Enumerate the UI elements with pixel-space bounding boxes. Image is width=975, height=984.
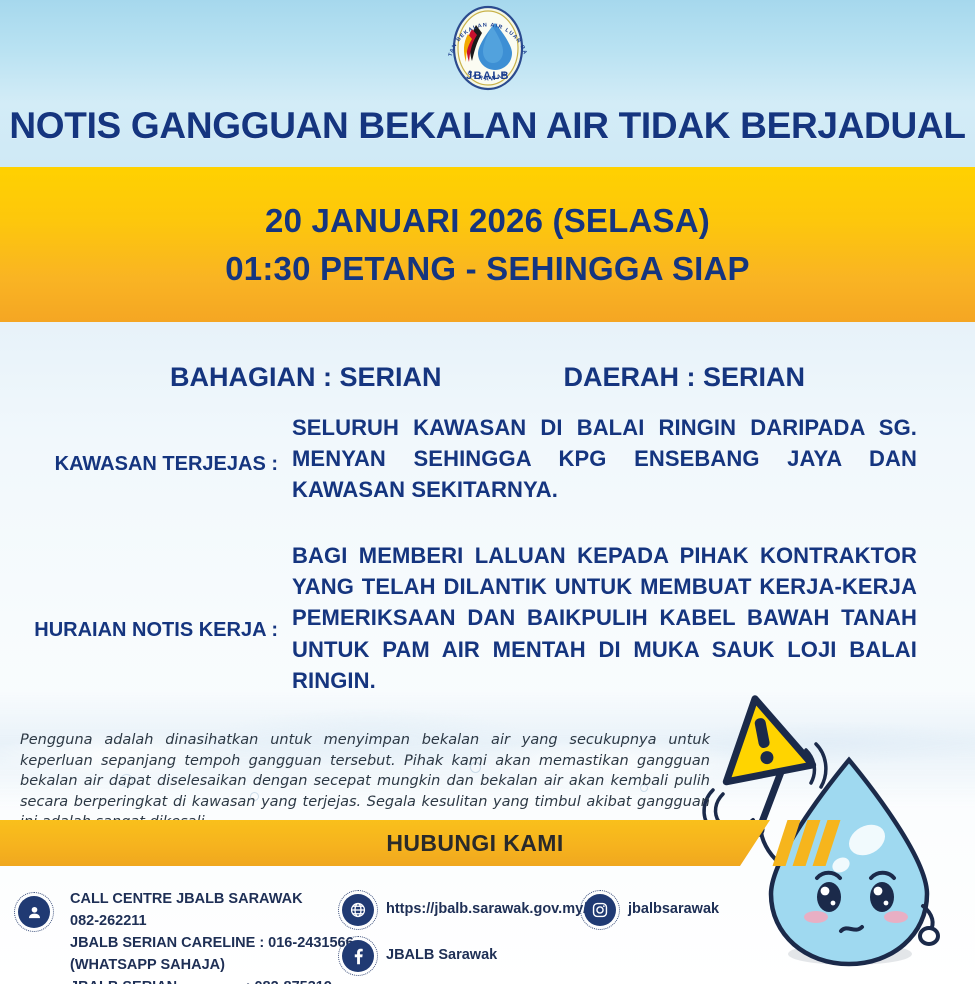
work-description-value: BAGI MEMBERI LALUAN KEPADA PIHAK KONTRAK… (292, 540, 917, 720)
instagram-handle[interactable]: jbalbsarawak (628, 901, 719, 917)
advisory-text: Pengguna adalah dinasihatkan untuk menyi… (20, 730, 710, 833)
date-time-banner: 20 JANUARI 2026 (SELASA) 01:30 PETANG - … (0, 167, 975, 322)
work-description-row: HURAIAN NOTIS KERJA : BAGI MEMBERI LALUA… (0, 540, 975, 720)
call-centre-block: CALL CENTRE JBALB SARAWAK 082-262211 JBA… (70, 888, 354, 984)
poster-body: BAHAGIAN : SERIAN DAERAH : SERIAN KAWASA… (0, 322, 975, 984)
contact-banner: HUBUNGI KAMI (0, 820, 770, 866)
facebook-handle[interactable]: JBALB Sarawak (386, 947, 497, 963)
facebook-icon[interactable] (338, 936, 378, 976)
person-icon (14, 892, 54, 932)
poster-header: JBALB JABATAN BEKALAN AIR LUAR BANDAR SA… (0, 0, 975, 167)
instagram-icon[interactable] (580, 890, 620, 930)
jbalb-sarawak-logo: JBALB JABATAN BEKALAN AIR LUAR BANDAR SA… (440, 3, 536, 93)
division-label: BAHAGIAN : SERIAN (170, 362, 442, 393)
affected-areas-label: KAWASAN TERJEJAS : (0, 412, 292, 516)
contact-banner-title: HUBUNGI KAMI (386, 830, 563, 857)
notice-poster: JBALB JABATAN BEKALAN AIR LUAR BANDAR SA… (0, 0, 975, 984)
district-label: DAERAH : SERIAN (564, 362, 806, 393)
globe-icon[interactable] (338, 890, 378, 930)
notice-time: 01:30 PETANG - SEHINGGA SIAP (225, 250, 750, 288)
notice-date: 20 JANUARI 2026 (SELASA) (265, 202, 710, 240)
page-title: NOTIS GANGGUAN BEKALAN AIR TIDAK BERJADU… (0, 105, 975, 147)
region-row: BAHAGIAN : SERIAN DAERAH : SERIAN (0, 362, 975, 393)
work-description-label: HURAIAN NOTIS KERJA : (0, 540, 292, 720)
page-title-text: NOTIS GANGGUAN BEKALAN AIR TIDAK BERJADU… (0, 105, 975, 147)
website-url[interactable]: https://jbalb.sarawak.gov.my/ (386, 901, 587, 917)
affected-areas-value: SELURUH KAWASAN DI BALAI RINGIN DARIPADA… (292, 412, 917, 516)
affected-areas-row: KAWASAN TERJEJAS : SELURUH KAWASAN DI BA… (0, 412, 975, 516)
contact-bar-wrap: HUBUNGI KAMI (0, 820, 975, 866)
contact-details: CALL CENTRE JBALB SARAWAK 082-262211 JBA… (0, 874, 975, 984)
